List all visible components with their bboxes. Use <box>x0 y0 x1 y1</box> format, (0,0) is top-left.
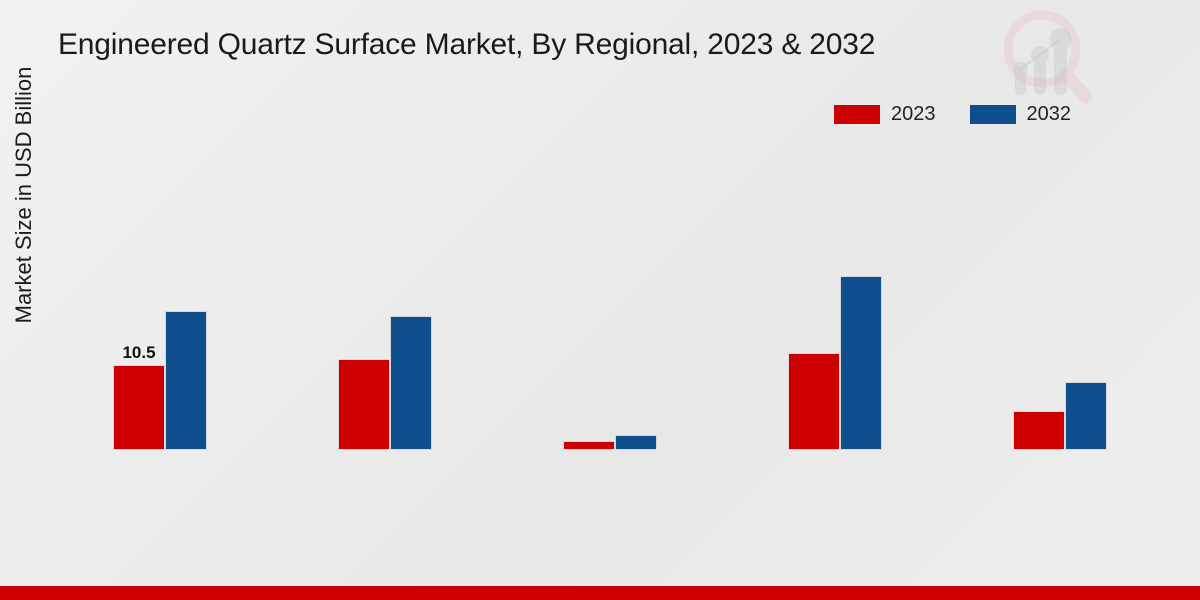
bar-2032-europe[interactable] <box>390 316 432 450</box>
legend-item-2032[interactable]: 2032 <box>970 103 1072 126</box>
bar-2032-south-america[interactable] <box>615 435 657 450</box>
chart-title: Engineered Quartz Surface Market, By Reg… <box>58 28 875 62</box>
chart-canvas: Engineered Quartz Surface Market, By Reg… <box>0 0 1200 600</box>
bottom-accent-band <box>0 586 1200 600</box>
bar-2032-asia-pacific[interactable] <box>840 276 882 450</box>
bar-2032-middle-east-and-africa[interactable] <box>1065 382 1107 450</box>
bar-group-middle-east-and-africa <box>1008 150 1112 450</box>
bar-2023-asia-pacific[interactable] <box>788 353 840 450</box>
bar-group-asia-pacific <box>783 150 887 450</box>
legend-swatch-2023 <box>834 105 880 124</box>
bar-2023-south-america[interactable] <box>563 441 615 450</box>
bar-2023-europe[interactable] <box>338 359 390 450</box>
legend-item-2023[interactable]: 2023 <box>834 103 936 126</box>
legend-label-2032: 2032 <box>1027 103 1072 126</box>
y-axis-title: Market Size in USD Billion <box>11 25 37 365</box>
legend-swatch-2032 <box>970 105 1016 124</box>
bar-2023-middle-east-and-africa[interactable] <box>1013 411 1065 450</box>
legend-label-2023: 2023 <box>891 103 936 126</box>
bar-group-north-america: 10.5 <box>108 150 212 450</box>
chart-legend: 2023 2032 <box>834 103 1071 126</box>
bar-group-europe <box>333 150 437 450</box>
bar-group-south-america <box>558 150 662 450</box>
bar-2032-north-america[interactable] <box>165 311 207 450</box>
bar-2023-north-america[interactable]: 10.5 <box>113 365 165 450</box>
market-research-magnifier-logo-icon <box>990 5 1100 105</box>
plot-area: 10.5 NORTH AMERICA EUROPE SOUTH AMERICA <box>40 150 1190 450</box>
watermark-logo <box>990 5 1100 105</box>
bar-value-label: 10.5 <box>122 343 155 363</box>
